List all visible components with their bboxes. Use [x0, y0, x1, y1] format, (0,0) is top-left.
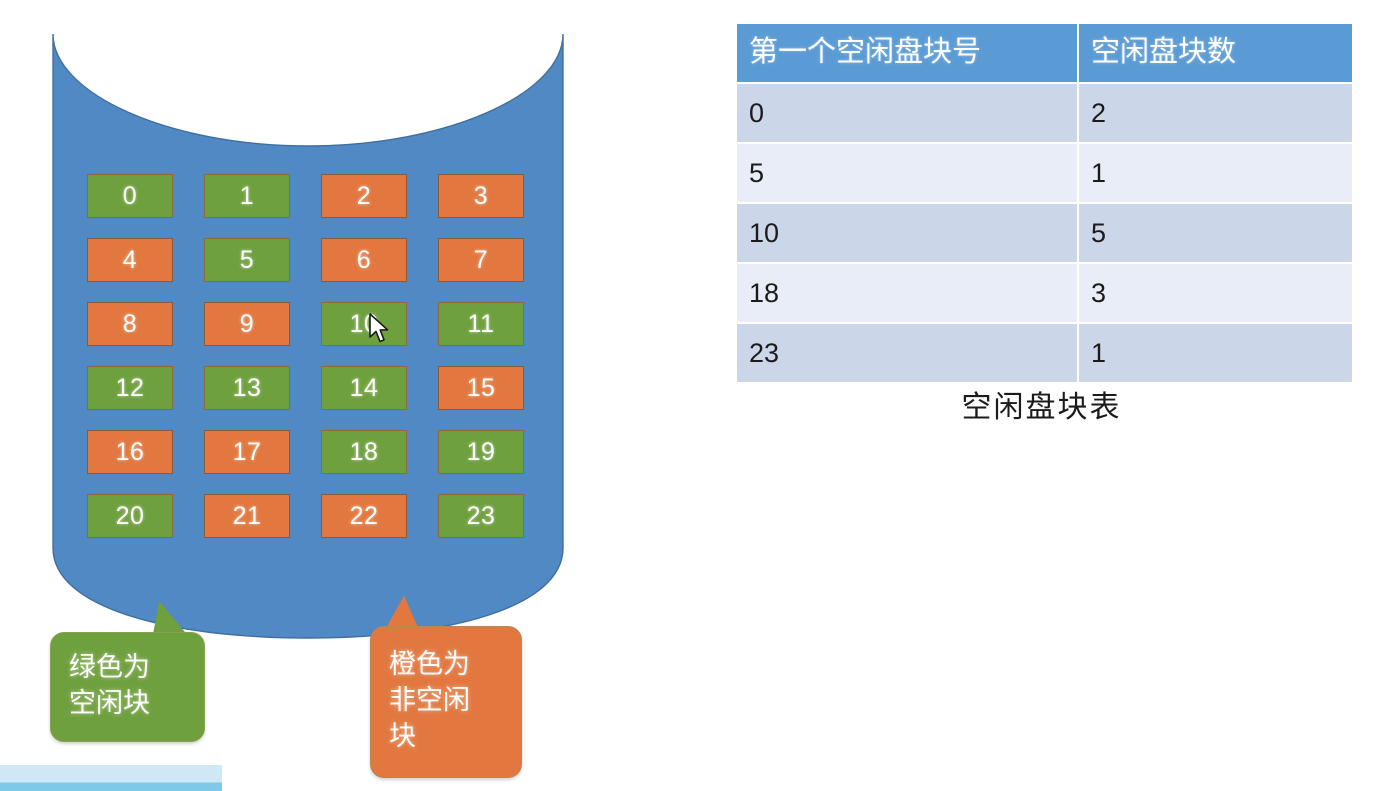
cell-first-free-block: 18 — [737, 264, 1077, 322]
column-header-first-free-block: 第一个空闲盘块号 — [737, 24, 1077, 82]
disk-block-4[interactable]: 4 — [87, 238, 173, 282]
disk-block-10[interactable]: 10 — [321, 302, 407, 346]
free-block-table: 第一个空闲盘块号 空闲盘块数 0251105183231 — [735, 22, 1354, 384]
table-row: 02 — [737, 84, 1352, 142]
table-header-row: 第一个空闲盘块号 空闲盘块数 — [737, 24, 1352, 82]
disk-block-9[interactable]: 9 — [204, 302, 290, 346]
video-progress-bar[interactable] — [0, 765, 222, 791]
cell-free-block-count: 1 — [1079, 144, 1352, 202]
disk-block-2[interactable]: 2 — [321, 174, 407, 218]
disk-block-19[interactable]: 19 — [438, 430, 524, 474]
callout-orange-used-blocks: 橙色为 非空闲 块 — [370, 626, 522, 778]
disk-block-23[interactable]: 23 — [438, 494, 524, 538]
cell-free-block-count: 5 — [1079, 204, 1352, 262]
free-block-table-body: 0251105183231 — [737, 84, 1352, 382]
disk-block-15[interactable]: 15 — [438, 366, 524, 410]
disk-block-3[interactable]: 3 — [438, 174, 524, 218]
table-row: 105 — [737, 204, 1352, 262]
cell-free-block-count: 1 — [1079, 324, 1352, 382]
disk-block-13[interactable]: 13 — [204, 366, 290, 410]
disk-block-21[interactable]: 21 — [204, 494, 290, 538]
free-block-table-wrapper: 第一个空闲盘块号 空闲盘块数 0251105183231 — [735, 22, 1348, 384]
callout-green-free-blocks: 绿色为 空闲块 — [50, 632, 205, 742]
callout-orange-line-2: 非空闲 — [389, 683, 507, 719]
column-header-free-block-count: 空闲盘块数 — [1079, 24, 1352, 82]
cell-first-free-block: 5 — [737, 144, 1077, 202]
disk-block-16[interactable]: 16 — [87, 430, 173, 474]
disk-block-0[interactable]: 0 — [87, 174, 173, 218]
disk-block-6[interactable]: 6 — [321, 238, 407, 282]
cell-free-block-count: 3 — [1079, 264, 1352, 322]
disk-block-18[interactable]: 18 — [321, 430, 407, 474]
disk-block-14[interactable]: 14 — [321, 366, 407, 410]
table-row: 51 — [737, 144, 1352, 202]
disk-block-12[interactable]: 12 — [87, 366, 173, 410]
cell-free-block-count: 2 — [1079, 84, 1352, 142]
disk-block-11[interactable]: 11 — [438, 302, 524, 346]
disk-block-17[interactable]: 17 — [204, 430, 290, 474]
callout-orange-line-3: 块 — [389, 719, 507, 755]
table-row: 183 — [737, 264, 1352, 322]
disk-block-7[interactable]: 7 — [438, 238, 524, 282]
disk-block-1[interactable]: 1 — [204, 174, 290, 218]
disk-block-20[interactable]: 20 — [87, 494, 173, 538]
free-block-table-head: 第一个空闲盘块号 空闲盘块数 — [737, 24, 1352, 82]
disk-block-grid: 01234567891011121314151617181920212223 — [87, 174, 531, 544]
disk-block-22[interactable]: 22 — [321, 494, 407, 538]
cell-first-free-block: 0 — [737, 84, 1077, 142]
cell-first-free-block: 10 — [737, 204, 1077, 262]
cell-first-free-block: 23 — [737, 324, 1077, 382]
callout-orange-line-1: 橙色为 — [389, 647, 507, 683]
callout-green-line-2: 空闲块 — [69, 686, 190, 722]
free-block-table-caption: 空闲盘块表 — [735, 382, 1348, 426]
disk-block-5[interactable]: 5 — [204, 238, 290, 282]
table-row: 231 — [737, 324, 1352, 382]
callout-green-line-1: 绿色为 — [69, 650, 190, 686]
disk-cylinder-figure: 01234567891011121314151617181920212223 — [50, 28, 566, 642]
disk-block-8[interactable]: 8 — [87, 302, 173, 346]
